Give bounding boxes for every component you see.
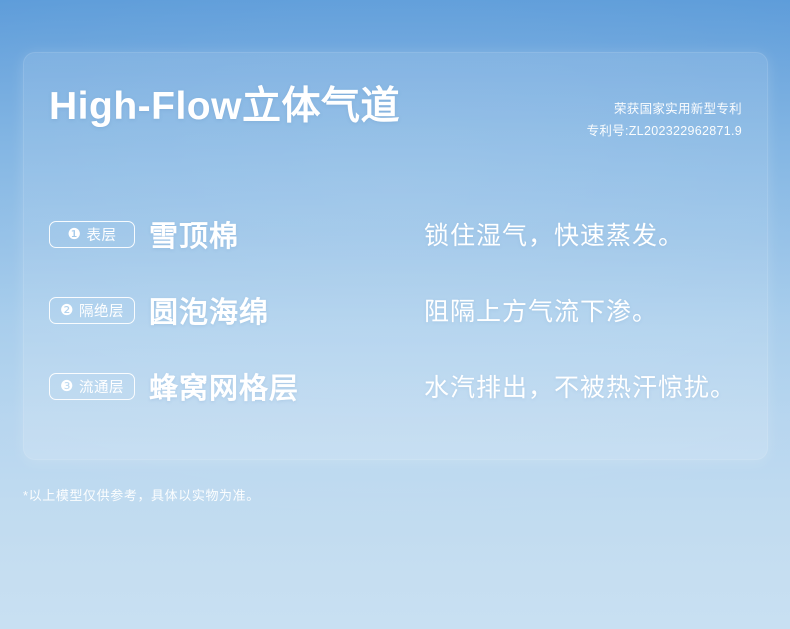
layer-description-3: 水汽排出，不被热汗惊扰。 <box>424 368 736 404</box>
layer-description-2: 阻隔上方气流下渗。 <box>424 292 658 328</box>
layer-row: ❸ 流通层 蜂窝网格层 水汽排出，不被热汗惊扰。 <box>0 348 790 424</box>
circled-number-icon: ❶ <box>68 227 82 242</box>
layer-name-3: 蜂窝网格层 <box>149 365 299 407</box>
layer-description-1: 锁住湿气，快速蒸发。 <box>424 216 684 252</box>
layer-name-2: 圆泡海绵 <box>149 289 269 331</box>
layer-name-1: 雪顶棉 <box>149 213 239 255</box>
layer-row: ❷ 隔绝层 圆泡海绵 阻隔上方气流下渗。 <box>0 272 790 348</box>
layer-badge-3: ❸ 流通层 <box>49 373 135 400</box>
layer-badge-label: 表层 <box>86 224 116 245</box>
promo-banner: High-Flow立体气道 荣获国家实用新型专利 专利号:ZL202322962… <box>0 0 790 629</box>
layer-badge-label: 隔绝层 <box>79 300 124 321</box>
circled-number-icon: ❸ <box>60 379 74 394</box>
circled-number-icon: ❷ <box>60 303 74 318</box>
layer-badge-label: 流通层 <box>79 376 124 397</box>
layer-list: ❶ 表层 雪顶棉 锁住湿气，快速蒸发。 ❷ 隔绝层 圆泡海绵 阻隔上方气流下渗。… <box>0 196 790 424</box>
layer-badge-1: ❶ 表层 <box>49 221 135 248</box>
layer-row: ❶ 表层 雪顶棉 锁住湿气，快速蒸发。 <box>0 196 790 272</box>
patent-info: 荣获国家实用新型专利 专利号:ZL202322962871.9 <box>587 99 742 143</box>
footnote-disclaimer: *以上模型仅供参考，具体以实物为准。 <box>23 485 260 504</box>
patent-award-text: 荣获国家实用新型专利 <box>587 99 742 121</box>
patent-number-text: 专利号:ZL202322962871.9 <box>587 121 742 143</box>
page-title: High-Flow立体气道 <box>49 85 400 130</box>
layer-badge-2: ❷ 隔绝层 <box>49 297 135 324</box>
